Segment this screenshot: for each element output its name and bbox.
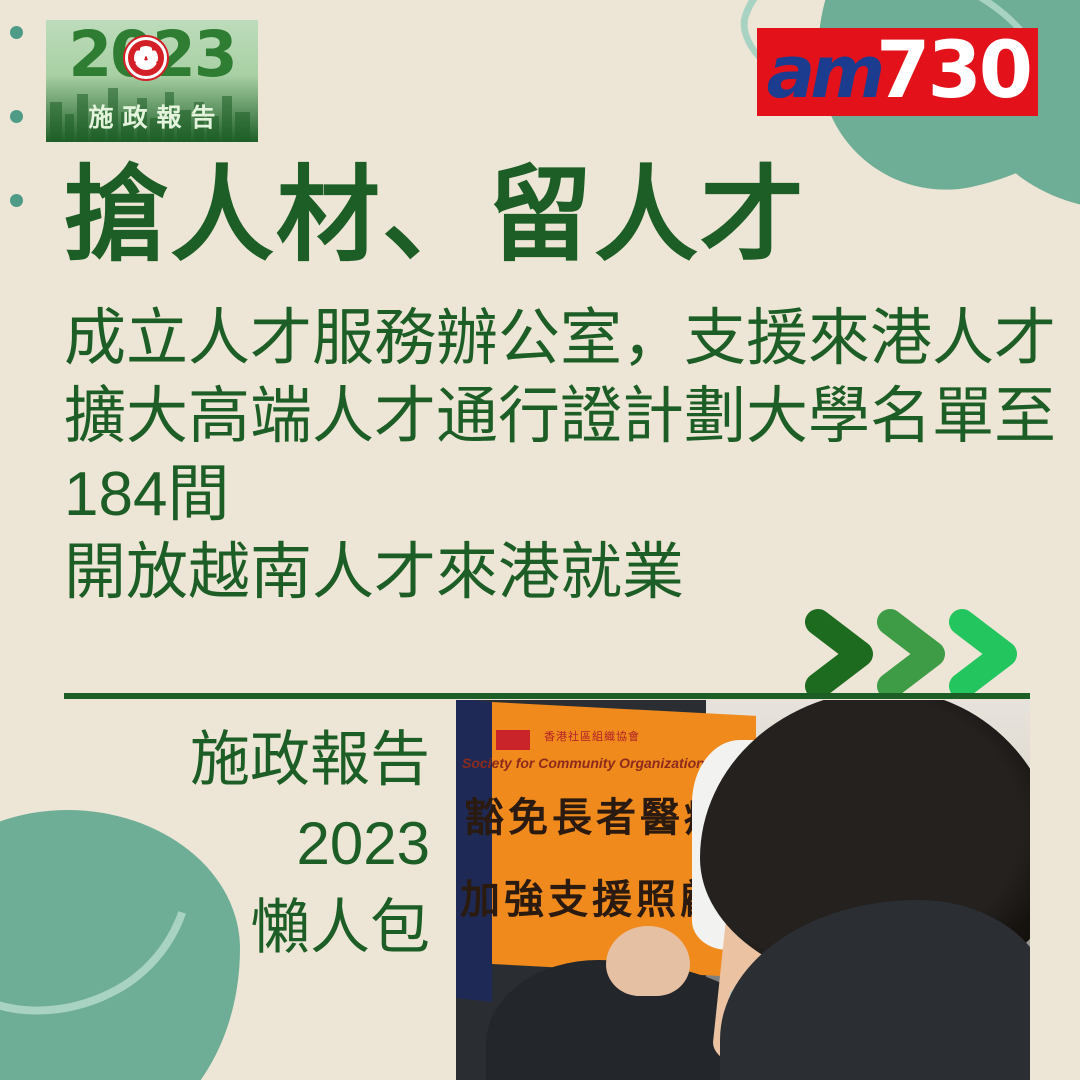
body-line-3: 184間 <box>64 456 1056 534</box>
news-photo: 香港社區組織協會 Society for Community Organizat… <box>456 700 1030 1080</box>
page-title: 搶人材、留人才 <box>64 160 806 272</box>
footer-line-3: 懶人包 <box>120 886 430 970</box>
am730-logo-prefix: am <box>767 36 881 108</box>
photo-second-hand <box>606 926 690 996</box>
banner-left-edge <box>456 700 492 1002</box>
triple-chevron-right-icon[interactable] <box>802 606 1032 702</box>
footer-line-2: 2023 <box>120 802 430 886</box>
body-line-4: 開放越南人才來港就業 <box>64 534 1056 612</box>
body-copy: 成立人才服務辦公室，支援來港人才 擴大高端人才通行證計劃大學名單至 184間 開… <box>64 300 1056 612</box>
body-line-1: 成立人才服務辦公室，支援來港人才 <box>64 300 1056 378</box>
policy-address-2023-badge: 2023 施政報告 <box>46 20 258 142</box>
footer-caption: 施政報告 2023 懶人包 <box>120 718 430 970</box>
am730-logo[interactable]: am 730 <box>757 28 1038 116</box>
footer-line-1: 施政報告 <box>120 718 430 802</box>
body-line-2: 擴大高端人才通行證計劃大學名單至 <box>64 378 1056 456</box>
soco-logo-mark-icon <box>496 730 530 750</box>
am730-logo-number: 730 <box>876 32 1030 110</box>
poster-canvas: 2023 施政報告 am 730 搶人材、留人才 成立人才服務辦公室，支援來港人… <box>0 0 1080 1080</box>
badge-subtitle: 施政報告 <box>46 104 258 132</box>
hong-kong-bauhinia-emblem-icon <box>125 37 167 79</box>
horizontal-divider <box>64 693 1030 699</box>
banner-org-name-cn: 香港社區組織協會 <box>544 728 640 744</box>
